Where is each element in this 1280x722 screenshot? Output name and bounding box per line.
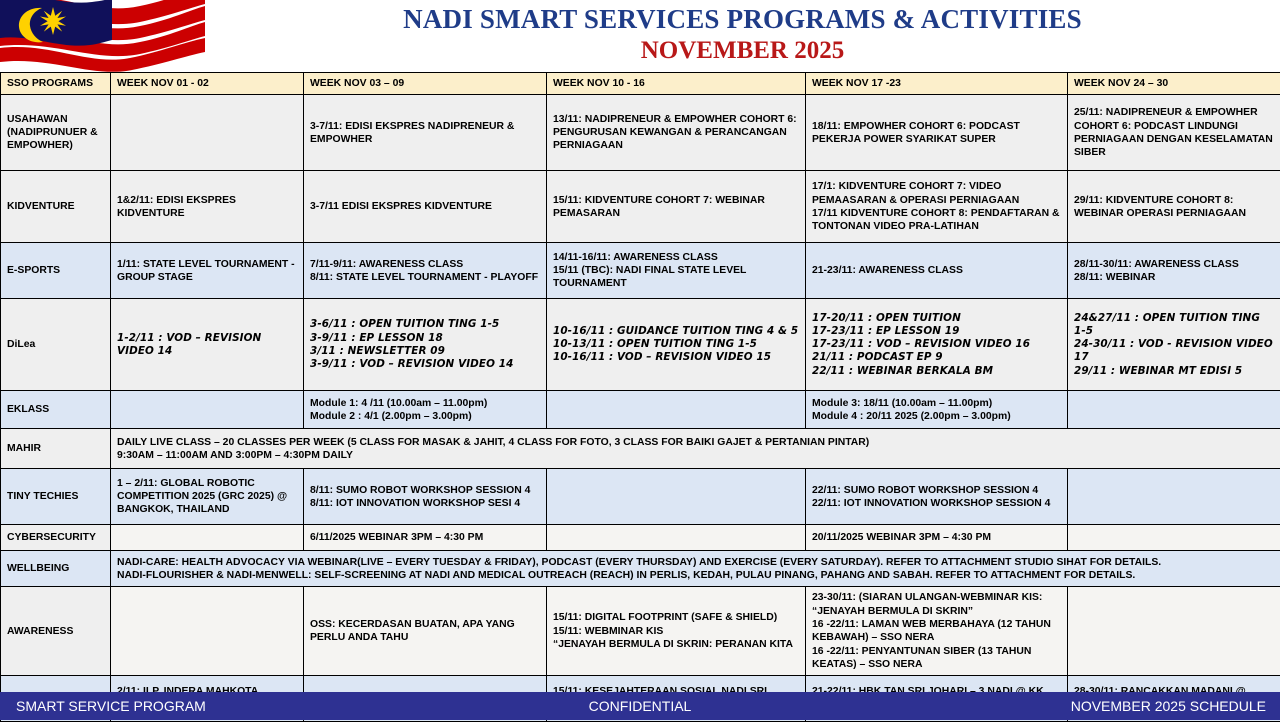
- cell-line: 28/11: WEBINAR: [1074, 271, 1274, 284]
- cell-line: NADI-CARE: HEALTH ADVOCACY VIA WEBINAR(L…: [117, 556, 1274, 569]
- row-label-usahawan: USAHAWAN (NADIPRUNUER & EMPOWHER): [1, 95, 111, 171]
- column-header-week-1: WEEK NOV 01 - 02: [111, 73, 304, 95]
- schedule-table: SSO PROGRAMS WEEK NOV 01 - 02 WEEK NOV 0…: [0, 72, 1280, 722]
- cell-dilea-w5: 24&27/11 : OPEN TUITION TING 1-524-30/11…: [1068, 299, 1280, 391]
- cell-cybersecurity-w2: 6/11/2025 WEBINAR 3PM – 4:30 PM: [304, 525, 547, 551]
- cell-line: 29/11 : WEBINAR MT EDISI 5: [1074, 365, 1274, 378]
- row-label-cybersecurity: CYBERSECURITY: [1, 525, 111, 551]
- column-header-week-3: WEEK NOV 10 - 16: [547, 73, 806, 95]
- cell-line: NADI-FLOURISHER & NADI-MENWELL: SELF-SCR…: [117, 569, 1274, 582]
- cell-tinytechies-w1: 1 – 2/11: GLOBAL ROBOTIC COMPETITION 202…: [111, 469, 304, 525]
- schedule-table-body: USAHAWAN (NADIPRUNUER & EMPOWHER) 3-7/11…: [1, 95, 1280, 722]
- row-label-dilea: DiLea: [1, 299, 111, 391]
- cell-esports-w5: 28/11-30/11: AWARENESS CLASS28/11: WEBIN…: [1068, 243, 1280, 299]
- page-title: NADI SMART SERVICES PROGRAMS & ACTIVITIE…: [403, 4, 1082, 35]
- page-header: NADI SMART SERVICES PROGRAMS & ACTIVITIE…: [0, 0, 1280, 72]
- cell-line: 3/11 : NEWSLETTER 09: [310, 345, 540, 358]
- cell-kidventure-w1: 1&2/11: EDISI EKSPRES KIDVENTURE: [111, 171, 304, 243]
- table-row: USAHAWAN (NADIPRUNUER & EMPOWHER) 3-7/11…: [1, 95, 1280, 171]
- cell-line: 3-9/11 : VOD – REVISION VIDEO 14: [310, 358, 540, 371]
- row-label-e-sports: E-SPORTS: [1, 243, 111, 299]
- cell-line: “JENAYAH BERMULA DI SKRIN: PERANAN KITA: [553, 638, 799, 651]
- cell-line: 23-30/11: (SIARAN ULANGAN-WEBMINAR KIS: …: [812, 591, 1061, 618]
- cell-line: Module 4 : 20/11 2025 (2.00pm – 3.00pm): [812, 410, 1061, 423]
- table-row: DiLea 1-2/11 : VOD – REVISION VIDEO 14 3…: [1, 299, 1280, 391]
- cell-line: 21/11 : PODCAST EP 9: [812, 351, 1061, 364]
- cell-esports-w3: 14/11-16/11: AWARENESS CLASS15/11 (TBC):…: [547, 243, 806, 299]
- cell-tinytechies-w2: 8/11: SUMO ROBOT WORKSHOP SESSION 48/11:…: [304, 469, 547, 525]
- cell-dilea-w3: 10-16/11 : GUIDANCE TUITION TING 4 & 510…: [547, 299, 806, 391]
- row-label-wellbeing: WELLBEING: [1, 551, 111, 587]
- cell-line: Module 3: 18/11 (10.00am – 11.00pm): [812, 397, 1061, 410]
- cell-eklass-w2: Module 1: 4 /11 (10.00am – 11.00pm)Modul…: [304, 391, 547, 429]
- column-header-week-2: WEEK NOV 03 – 09: [304, 73, 547, 95]
- column-header-week-5: WEEK NOV 24 – 30: [1068, 73, 1280, 95]
- cell-line: 22/11: SUMO ROBOT WORKSHOP SESSION 4: [812, 484, 1061, 497]
- cell-dilea-w1: 1-2/11 : VOD – REVISION VIDEO 14: [111, 299, 304, 391]
- cell-tinytechies-w4: 22/11: SUMO ROBOT WORKSHOP SESSION 422/1…: [806, 469, 1068, 525]
- row-label-awareness: AWARENESS: [1, 587, 111, 676]
- cell-dilea-w4: 17-20/11 : OPEN TUITION17-23/11 : EP LES…: [806, 299, 1068, 391]
- cell-line: 7/11-9/11: AWARENESS CLASS: [310, 258, 540, 271]
- cell-esports-w1: 1/11: STATE LEVEL TOURNAMENT - GROUP STA…: [111, 243, 304, 299]
- cell-line: 15/11 (TBC): NADI FINAL STATE LEVEL TOUR…: [553, 264, 799, 291]
- row-label-eklass: EKLASS: [1, 391, 111, 429]
- page-subtitle: NOVEMBER 2025: [641, 37, 844, 66]
- cell-mahir-merged: DAILY LIVE CLASS – 20 CLASSES PER WEEK (…: [111, 429, 1280, 469]
- cell-line: 8/11: SUMO ROBOT WORKSHOP SESSION 4: [310, 484, 540, 497]
- cell-line: 24&27/11 : OPEN TUITION TING 1-5: [1074, 312, 1274, 339]
- cell-kidventure-w5: 29/11: KIDVENTURE COHORT 8: WEBINAR OPER…: [1068, 171, 1280, 243]
- cell-line: Module 2 : 4/1 (2.00pm – 3.00pm): [310, 410, 540, 423]
- table-row: AWARENESS OSS: KECERDASAN BUATAN, APA YA…: [1, 587, 1280, 676]
- table-row: KIDVENTURE 1&2/11: EDISI EKSPRES KIDVENT…: [1, 171, 1280, 243]
- cell-line: 15/11: DIGITAL FOOTPRINT (SAFE & SHIELD): [553, 611, 799, 624]
- cell-line: DAILY LIVE CLASS – 20 CLASSES PER WEEK (…: [117, 436, 1274, 449]
- cell-line: 17/11 KIDVENTURE COHORT 8: PENDAFTARAN &…: [812, 207, 1061, 234]
- cell-line: 16 -22/11: LAMAN WEB MERBAHAYA (12 TAHUN…: [812, 618, 1061, 645]
- cell-line: Module 1: 4 /11 (10.00am – 11.00pm): [310, 397, 540, 410]
- cell-tinytechies-w3: [547, 469, 806, 525]
- cell-line: 10-16/11 : GUIDANCE TUITION TING 4 & 5: [553, 325, 799, 338]
- table-header-row: SSO PROGRAMS WEEK NOV 01 - 02 WEEK NOV 0…: [1, 73, 1280, 95]
- cell-line: 8/11: STATE LEVEL TOURNAMENT - PLAYOFF: [310, 271, 540, 284]
- table-row: E-SPORTS 1/11: STATE LEVEL TOURNAMENT - …: [1, 243, 1280, 299]
- cell-line: 24-30/11 : VOD - REVISION VIDEO 17: [1074, 338, 1274, 365]
- cell-line: 3-9/11 : EP LESSON 18: [310, 332, 540, 345]
- cell-usahawan-w1: [111, 95, 304, 171]
- cell-kidventure-w4: 17/1: KIDVENTURE COHORT 7: VIDEO PEMAASA…: [806, 171, 1068, 243]
- cell-line: 14/11-16/11: AWARENESS CLASS: [553, 251, 799, 264]
- row-label-tiny-techies: TINY TECHIES: [1, 469, 111, 525]
- malaysia-flag-icon: [0, 0, 205, 72]
- cell-line: 10-13/11 : OPEN TUITION TING 1-5: [553, 338, 799, 351]
- cell-cybersecurity-w3: [547, 525, 806, 551]
- cell-eklass-w1: [111, 391, 304, 429]
- table-row: MAHIR DAILY LIVE CLASS – 20 CLASSES PER …: [1, 429, 1280, 469]
- cell-esports-w2: 7/11-9/11: AWARENESS CLASS8/11: STATE LE…: [304, 243, 547, 299]
- footer-left-label: SMART SERVICE PROGRAM: [16, 698, 206, 714]
- cell-usahawan-w3: 13/11: NADIPRENEUR & EMPOWHER COHORT 6: …: [547, 95, 806, 171]
- cell-awareness-w5: [1068, 587, 1280, 676]
- cell-awareness-w3: 15/11: DIGITAL FOOTPRINT (SAFE & SHIELD)…: [547, 587, 806, 676]
- cell-usahawan-w2: 3-7/11: EDISI EKSPRES NADIPRENEUR & EMPO…: [304, 95, 547, 171]
- cell-line: 17-23/11 : VOD – REVISION VIDEO 16: [812, 338, 1061, 351]
- cell-kidventure-w3: 15/11: KIDVENTURE COHORT 7: WEBINAR PEMA…: [547, 171, 806, 243]
- table-row: TINY TECHIES 1 – 2/11: GLOBAL ROBOTIC CO…: [1, 469, 1280, 525]
- cell-eklass-w4: Module 3: 18/11 (10.00am – 11.00pm)Modul…: [806, 391, 1068, 429]
- cell-line: 1-2/11 : VOD – REVISION VIDEO 14: [117, 332, 297, 359]
- cell-cybersecurity-w4: 20/11/2025 WEBINAR 3PM – 4:30 PM: [806, 525, 1068, 551]
- footer-right-label: NOVEMBER 2025 SCHEDULE: [1071, 698, 1266, 714]
- cell-line: 22/11 : WEBINAR BERKALA BM: [812, 365, 1061, 378]
- cell-line: 16 -22/11: PENYANTUNAN SIBER (13 TAHUN K…: [812, 645, 1061, 672]
- cell-line: 22/11: IOT INNOVATION WORKSHOP SESSION 4: [812, 497, 1061, 510]
- cell-eklass-w5: [1068, 391, 1280, 429]
- table-row: CYBERSECURITY 6/11/2025 WEBINAR 3PM – 4:…: [1, 525, 1280, 551]
- cell-kidventure-w2: 3-7/11 EDISI EKSPRES KIDVENTURE: [304, 171, 547, 243]
- cell-line: 17-23/11 : EP LESSON 19: [812, 325, 1061, 338]
- cell-line: 17/1: KIDVENTURE COHORT 7: VIDEO PEMAASA…: [812, 180, 1061, 207]
- page-footer: SMART SERVICE PROGRAM CONFIDENTIAL NOVEM…: [0, 692, 1280, 720]
- schedule-page: NADI SMART SERVICES PROGRAMS & ACTIVITIE…: [0, 0, 1280, 720]
- cell-cybersecurity-w1: [111, 525, 304, 551]
- cell-line: 8/11: IOT INNOVATION WORKSHOP SESI 4: [310, 497, 540, 510]
- header-titles: NADI SMART SERVICES PROGRAMS & ACTIVITIE…: [205, 0, 1280, 72]
- cell-usahawan-w5: 25/11: NADIPRENEUR & EMPOWHER COHORT 6: …: [1068, 95, 1280, 171]
- column-header-week-4: WEEK NOV 17 -23: [806, 73, 1068, 95]
- cell-usahawan-w4: 18/11: EMPOWHER COHORT 6: PODCAST PEKERJ…: [806, 95, 1068, 171]
- row-label-mahir: MAHIR: [1, 429, 111, 469]
- cell-line: 28/11-30/11: AWARENESS CLASS: [1074, 258, 1274, 271]
- cell-line: 9:30AM – 11:00AM AND 3:00PM – 4:30PM DAI…: [117, 449, 1274, 462]
- table-row: EKLASS Module 1: 4 /11 (10.00am – 11.00p…: [1, 391, 1280, 429]
- cell-awareness-w2: OSS: KECERDASAN BUATAN, APA YANG PERLU A…: [304, 587, 547, 676]
- cell-awareness-w1: [111, 587, 304, 676]
- cell-line: 17-20/11 : OPEN TUITION: [812, 312, 1061, 325]
- cell-cybersecurity-w5: [1068, 525, 1280, 551]
- column-header-sso-programs: SSO PROGRAMS: [1, 73, 111, 95]
- cell-line: 3-6/11 : OPEN TUITION TING 1-5: [310, 318, 540, 331]
- cell-line: 10-16/11 : VOD – REVISION VIDEO 15: [553, 351, 799, 364]
- cell-esports-w4: 21-23/11: AWARENESS CLASS: [806, 243, 1068, 299]
- cell-wellbeing-merged: NADI-CARE: HEALTH ADVOCACY VIA WEBINAR(L…: [111, 551, 1280, 587]
- row-label-kidventure: KIDVENTURE: [1, 171, 111, 243]
- cell-line: 15/11: WEBMINAR KIS: [553, 625, 799, 638]
- cell-awareness-w4: 23-30/11: (SIARAN ULANGAN-WEBMINAR KIS: …: [806, 587, 1068, 676]
- cell-dilea-w2: 3-6/11 : OPEN TUITION TING 1-53-9/11 : E…: [304, 299, 547, 391]
- cell-eklass-w3: [547, 391, 806, 429]
- table-row: WELLBEING NADI-CARE: HEALTH ADVOCACY VIA…: [1, 551, 1280, 587]
- cell-tinytechies-w5: [1068, 469, 1280, 525]
